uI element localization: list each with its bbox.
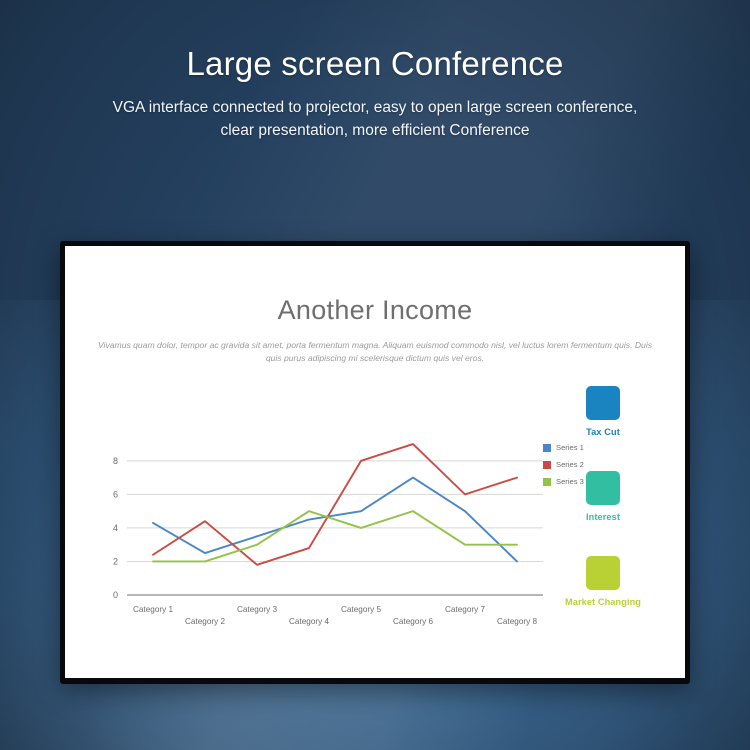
chart-y-tick-label: 6 — [113, 490, 118, 500]
key-label: Interest — [539, 512, 667, 522]
chart-x-tick-labels: Category 1Category 2Category 3Category 4… — [133, 605, 537, 626]
chart-x-tick-label: Category 7 — [445, 605, 485, 614]
chart-y-tick-labels: 02468 — [113, 456, 118, 600]
chart-x-tick-label: Category 6 — [393, 617, 433, 626]
slide-title: Another Income — [65, 246, 685, 326]
key-color-swatch — [586, 471, 620, 505]
chart-x-tick-label: Category 1 — [133, 605, 173, 614]
chart-x-tick-label: Category 5 — [341, 605, 381, 614]
chart-gridlines — [127, 461, 543, 595]
chart-y-tick-label: 0 — [113, 590, 118, 600]
chart-x-tick-label: Category 2 — [185, 617, 225, 626]
key-label: Market Changing — [539, 597, 667, 607]
chart-series-line-series-3 — [153, 511, 517, 561]
chart-series-line-series-2 — [153, 444, 517, 565]
key-color-swatch — [586, 386, 620, 420]
banner-heading-block: Large screen Conference VGA interface co… — [0, 0, 750, 142]
chart-x-tick-label: Category 3 — [237, 605, 277, 614]
monitor-screen: Another Income Vivamus quam dolor, tempo… — [65, 246, 685, 678]
subheadline-line-1: VGA interface connected to projector, ea… — [113, 99, 638, 116]
key-item: Interest — [539, 471, 667, 522]
chart-y-tick-label: 4 — [113, 523, 118, 533]
chart-series-lines — [153, 444, 517, 565]
chart-svg: 02468 Category 1Category 2Category 3Cate… — [87, 426, 557, 641]
key-color-swatch — [586, 556, 620, 590]
chart-y-tick-label: 8 — [113, 456, 118, 466]
subheadline-line-2: clear presentation, more efficient Confe… — [220, 122, 529, 139]
slide-subtitle: Vivamus quam dolor, tempor ac gravida si… — [90, 326, 660, 364]
monitor-stand-reflection — [56, 684, 696, 750]
slide-subtitle-line-1: Vivamus quam dolor, tempor ac gravida si… — [98, 340, 520, 350]
key-item: Tax Cut — [539, 386, 667, 437]
chart-x-tick-label: Category 4 — [289, 617, 329, 626]
monitor-bezel: Another Income Vivamus quam dolor, tempo… — [60, 241, 690, 684]
subheadline: VGA interface connected to projector, ea… — [0, 83, 750, 142]
key-item: Market Changing — [539, 556, 667, 607]
key-label: Tax Cut — [539, 427, 667, 437]
headline: Large screen Conference — [0, 0, 750, 83]
line-chart: 02468 Category 1Category 2Category 3Cate… — [87, 426, 557, 641]
chart-x-tick-label: Category 8 — [497, 617, 537, 626]
promo-page: Large screen Conference VGA interface co… — [0, 0, 750, 750]
chart-y-tick-label: 2 — [113, 557, 118, 567]
key-column: Tax CutInterestMarket Changing — [539, 386, 667, 607]
